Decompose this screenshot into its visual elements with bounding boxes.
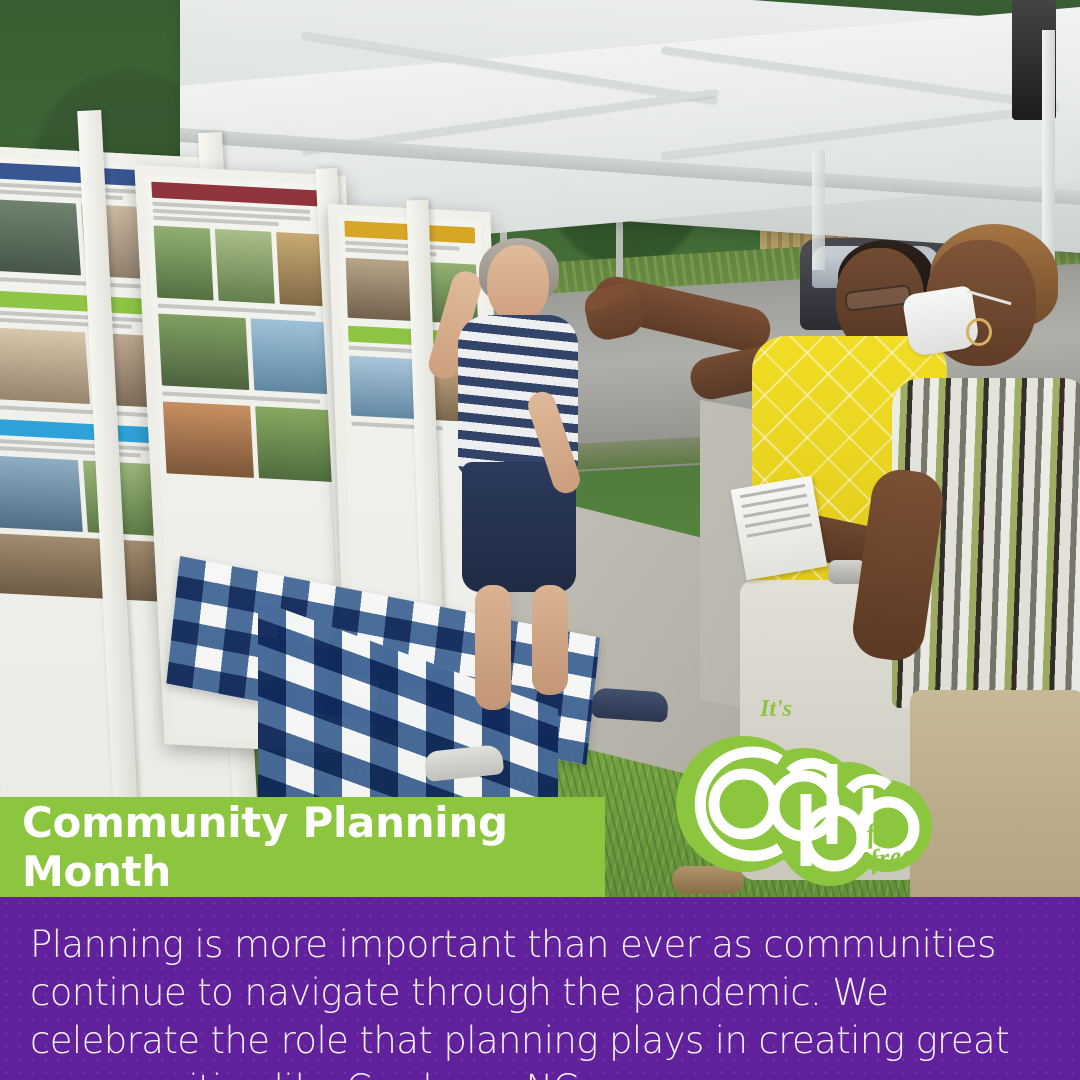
- face: [487, 245, 549, 321]
- body-paragraph: Planning is more important than ever as …: [0, 897, 1080, 1080]
- board-photo: [215, 229, 275, 304]
- canopy-leg: [812, 150, 825, 270]
- canopy-leg: [1042, 30, 1055, 270]
- board-photo: [0, 326, 89, 404]
- board-photo: [154, 226, 214, 301]
- social-media-poster: Hwy 54: [0, 0, 1080, 1080]
- board-photo: [0, 455, 83, 532]
- green-title-banner: Community Planning Month: [0, 797, 605, 897]
- face-mask-icon: [902, 285, 981, 357]
- hoop-earring: [966, 318, 992, 346]
- sneaker: [591, 687, 669, 722]
- board-photo: [0, 198, 80, 276]
- board-photo-row: [158, 314, 341, 395]
- handout-paper[interactable]: [731, 476, 828, 581]
- leg: [475, 585, 511, 710]
- purple-body-banner: Planning is more important than ever as …: [0, 897, 1080, 1080]
- board-photo: [163, 401, 254, 477]
- board-photo: [346, 258, 411, 321]
- logo-tagline-top: It's: [760, 696, 792, 723]
- board-photo-row: [154, 226, 337, 307]
- leg: [532, 585, 568, 695]
- page-title: Community Planning Month: [22, 798, 605, 896]
- logo-tagline-line2: free: [868, 841, 915, 873]
- logo-tagline-bottom: feel free: [865, 815, 915, 873]
- board-photo: [158, 314, 249, 390]
- board-photo-row: [163, 401, 346, 482]
- board-photo: [349, 356, 414, 419]
- carrboro-logo[interactable]: It's feel free: [672, 694, 942, 894]
